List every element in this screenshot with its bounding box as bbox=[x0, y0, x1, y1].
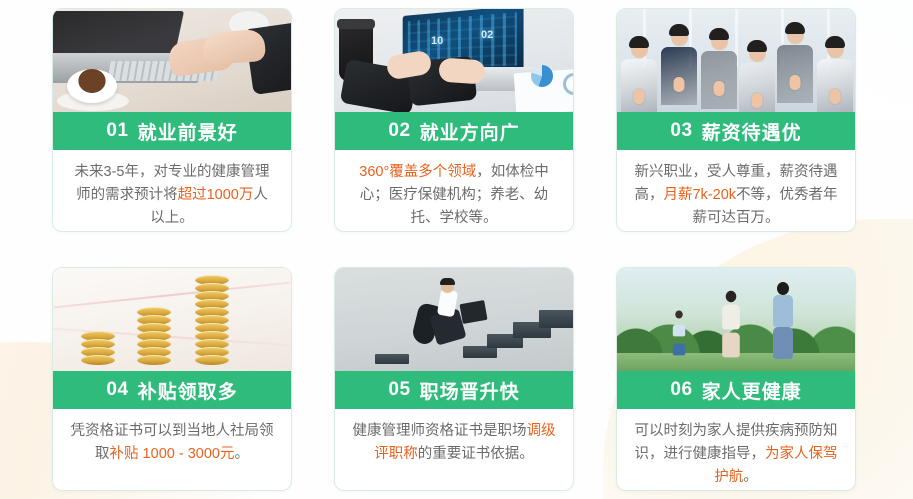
family-member-figure bbox=[773, 282, 793, 359]
legs-shape bbox=[722, 333, 740, 358]
card-banner-05: 05职场晋升快 bbox=[335, 371, 573, 409]
card-body: 未来3-5年，对专业的健康管理师的需求预计将超过1000万人以上。 bbox=[53, 150, 291, 232]
benefit-card-03[interactable]: 03薪资待遇优新兴职业，受人尊重，薪资待遇高，月薪7k-20k不等，优秀者年薪可… bbox=[616, 8, 856, 232]
gold-coin-shape bbox=[137, 355, 171, 365]
card-banner-04: 04补贴领取多 bbox=[53, 371, 291, 409]
coin-stack bbox=[137, 309, 171, 365]
card-title: 职场晋升快 bbox=[420, 377, 520, 404]
hand-shape bbox=[202, 29, 266, 65]
benefit-card-02[interactable]: 100202就业方向广360°覆盖多个领域，如体检中心；医疗保健机构；养老、幼托… bbox=[334, 8, 574, 232]
card-body: 凭资格证书可以到当地人社局领取补贴 1000 - 3000元。 bbox=[53, 409, 291, 490]
chart-line-shape bbox=[54, 282, 291, 309]
hair-shape bbox=[747, 40, 767, 52]
coin-stack bbox=[195, 277, 229, 365]
body-text-segment: 。 bbox=[234, 446, 249, 462]
card-description: 健康管理师资格证书是职场调级评职称的重要证书依据。 bbox=[351, 420, 557, 466]
card-body: 新兴职业，受人尊重，薪资待遇高，月薪7k-20k不等，优秀者年薪可达百万。 bbox=[617, 150, 855, 232]
team-member-figure bbox=[661, 27, 697, 112]
card-body: 健康管理师资格证书是职场调级评职称的重要证书依据。 bbox=[335, 409, 573, 490]
head-shape bbox=[777, 282, 789, 295]
card-banner-01: 01就业前景好 bbox=[53, 112, 291, 150]
man-climbing-steps-photo bbox=[335, 268, 573, 371]
card-description: 可以时刻为家人提供疾病预防知识，进行健康指导，为家人保驾护航。 bbox=[633, 420, 839, 489]
benefit-card-04[interactable]: 04补贴领取多凭资格证书可以到当地人社局领取补贴 1000 - 3000元。 bbox=[52, 267, 292, 491]
legs-shape bbox=[773, 327, 793, 359]
torso-shape bbox=[817, 59, 853, 112]
team-member-figure bbox=[777, 25, 813, 112]
card-number: 05 bbox=[388, 379, 410, 401]
business-team-thumbsup-photo bbox=[617, 9, 855, 112]
body-shape bbox=[773, 295, 793, 327]
hair-shape bbox=[629, 36, 649, 48]
card-body: 360°覆盖多个领域，如体检中心；医疗保健机构；养老、幼托、学校等。 bbox=[335, 150, 573, 232]
card-title: 家人更健康 bbox=[702, 377, 802, 404]
card-banner-03: 03薪资待遇优 bbox=[617, 112, 855, 150]
gold-coin-shape bbox=[81, 355, 115, 365]
card-title: 薪资待遇优 bbox=[702, 118, 802, 145]
hair-shape bbox=[440, 278, 455, 285]
benefit-card-01[interactable]: 01就业前景好未来3-5年，对专业的健康管理师的需求预计将超过1000万人以上。 bbox=[52, 8, 292, 232]
benefit-card-06[interactable]: 06家人更健康可以时刻为家人提供疾病预防知识，进行健康指导，为家人保驾护航。 bbox=[616, 267, 856, 491]
card-number: 04 bbox=[106, 379, 128, 401]
family-member-figure bbox=[669, 308, 689, 359]
benefit-card-05[interactable]: 05职场晋升快健康管理师资格证书是职场调级评职称的重要证书依据。 bbox=[334, 267, 574, 491]
card-description: 新兴职业，受人尊重，薪资待遇高，月薪7k-20k不等，优秀者年薪可达百万。 bbox=[633, 161, 839, 230]
pie-chart-shape bbox=[531, 65, 553, 87]
staircase-step-shape bbox=[539, 310, 573, 328]
card-number: 01 bbox=[106, 120, 128, 142]
torso-shape bbox=[739, 63, 775, 112]
card-description: 360°覆盖多个领域，如体检中心；医疗保健机构；养老、幼托、学校等。 bbox=[351, 161, 557, 230]
laptop-screen-shape bbox=[53, 11, 184, 59]
laptop-data-screen-photo: 1002 bbox=[335, 9, 573, 112]
coin-stack bbox=[81, 333, 115, 365]
hair-shape bbox=[709, 28, 729, 40]
team-member-figure bbox=[739, 43, 775, 112]
body-text-highlight: 超过1000万 bbox=[178, 187, 254, 203]
card-number: 06 bbox=[670, 379, 692, 401]
coffee-cup-shape bbox=[67, 69, 117, 103]
hair-shape bbox=[669, 24, 689, 36]
body-text-highlight: 补贴 1000 - 3000元 bbox=[110, 446, 235, 462]
team-member-figure bbox=[701, 31, 737, 112]
torso-shape bbox=[777, 45, 813, 103]
legs-shape bbox=[673, 344, 685, 356]
gold-coin-shape bbox=[195, 355, 229, 365]
thumbs-up-shape bbox=[790, 75, 801, 90]
travel-mug-lid-shape bbox=[337, 19, 375, 29]
team-member-figure bbox=[817, 39, 853, 112]
body-text-segment: 健康管理师资格证书是职场 bbox=[353, 423, 527, 439]
screen-number-left: 10 bbox=[431, 35, 443, 47]
thumbs-up-shape bbox=[674, 77, 685, 92]
card-description: 凭资格证书可以到当地人社局领取补贴 1000 - 3000元。 bbox=[69, 420, 275, 466]
card-number: 03 bbox=[670, 120, 692, 142]
body-shape bbox=[673, 325, 685, 337]
desk-laptop-coffee-photo bbox=[53, 9, 291, 112]
thumbs-up-shape bbox=[634, 89, 645, 104]
card-title: 就业方向广 bbox=[420, 118, 520, 145]
card-number: 02 bbox=[388, 120, 410, 142]
card-banner-06: 06家人更健康 bbox=[617, 371, 855, 409]
staircase-step-shape bbox=[375, 354, 409, 364]
benefits-card-grid: 01就业前景好未来3-5年，对专业的健康管理师的需求预计将超过1000万人以上。… bbox=[0, 0, 913, 491]
body-shape bbox=[722, 305, 740, 330]
torso-shape bbox=[661, 47, 697, 105]
thumbs-up-shape bbox=[752, 93, 763, 108]
torso-shape bbox=[701, 51, 737, 109]
body-text-segment: 的重要证书依据。 bbox=[418, 446, 534, 462]
body-text-highlight: 月薪7k-20k bbox=[663, 187, 736, 203]
thumbs-up-shape bbox=[830, 89, 841, 104]
body-text-segment: 。 bbox=[743, 469, 758, 485]
team-member-figure bbox=[621, 39, 657, 112]
card-banner-02: 02就业方向广 bbox=[335, 112, 573, 150]
head-shape bbox=[726, 291, 737, 302]
card-description: 未来3-5年，对专业的健康管理师的需求预计将超过1000万人以上。 bbox=[69, 161, 275, 230]
family-member-figure bbox=[721, 290, 741, 359]
gold-coin-stacks-photo bbox=[53, 268, 291, 371]
hair-shape bbox=[825, 36, 845, 48]
screen-number-right: 02 bbox=[481, 29, 493, 41]
head-shape bbox=[675, 310, 682, 318]
card-title: 补贴领取多 bbox=[138, 377, 238, 404]
card-body: 可以时刻为家人提供疾病预防知识，进行健康指导，为家人保驾护航。 bbox=[617, 409, 855, 491]
hair-shape bbox=[785, 22, 805, 34]
thumbs-up-shape bbox=[714, 81, 725, 96]
hand-shape bbox=[438, 57, 486, 84]
briefcase-shape bbox=[459, 300, 487, 324]
card-title: 就业前景好 bbox=[138, 118, 238, 145]
torso-shape bbox=[621, 59, 657, 112]
body-text-highlight: 360°覆盖多个领域 bbox=[359, 164, 476, 180]
family-running-outdoors-photo bbox=[617, 268, 855, 371]
